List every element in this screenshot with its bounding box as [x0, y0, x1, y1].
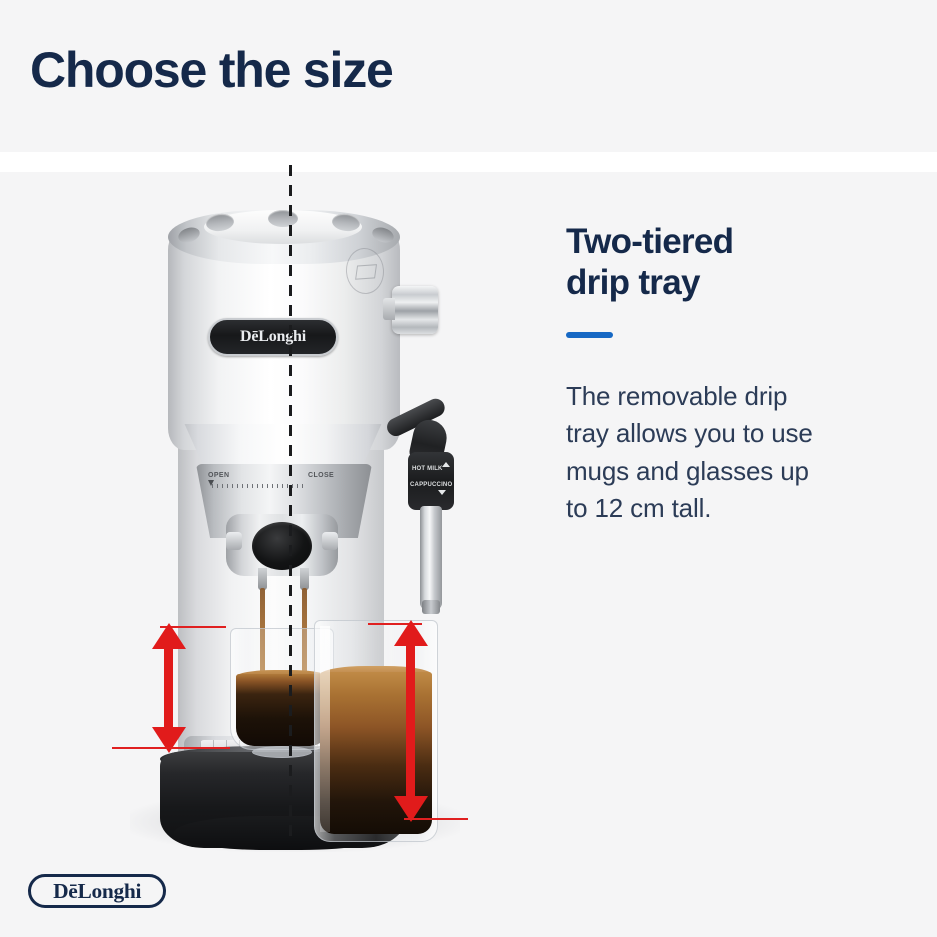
- portafilter-ear-left: [226, 532, 242, 550]
- steam-wand-cappuccino-label: CAPPUCCINO: [410, 482, 452, 488]
- feature-accent-divider: [566, 332, 613, 338]
- steam-wand-hot-milk-label: HOT MILK: [412, 466, 443, 472]
- feature-title: Two-tiered drip tray: [566, 222, 906, 304]
- steam-wand-tip: [422, 600, 440, 614]
- measure-left-tick-bottom: [112, 747, 230, 749]
- group-head-open-label: OPEN: [208, 472, 229, 479]
- coffee-spout-left: [258, 568, 267, 590]
- measure-left-arrowhead-down: [152, 727, 186, 753]
- measure-right-tick-bottom: [404, 818, 468, 820]
- top-button-two-cup[interactable]: [268, 210, 298, 227]
- page-title: Choose the size: [30, 44, 393, 97]
- portafilter-basket: [252, 522, 312, 570]
- steam-control-knob[interactable]: [392, 286, 438, 334]
- measure-left-shaft: [164, 645, 173, 733]
- delonghi-logo-text: DēLonghi: [53, 881, 141, 902]
- steam-wand-down-arrow-icon: [438, 490, 446, 495]
- group-head-close-label: CLOSE: [308, 472, 334, 479]
- steam-wand-collar[interactable]: [408, 452, 454, 510]
- steam-wand-tube: [420, 506, 442, 610]
- product-image: DēLonghi OPEN CLOSE HOT MILK CAPPUCCINO: [120, 180, 480, 860]
- feature-text-panel: Two-tiered drip tray The removable drip …: [566, 222, 906, 528]
- coffee-spout-right: [300, 568, 309, 590]
- portafilter-ear-right: [322, 532, 338, 550]
- machine-brand-badge: DēLonghi: [208, 318, 338, 356]
- steam-wand-up-arrow-icon: [442, 462, 450, 467]
- feature-description: The removable drip tray allows you to us…: [566, 378, 906, 528]
- glass-tall-highlight: [320, 626, 330, 832]
- comparison-split-line: [289, 165, 292, 841]
- page-header: Choose the size: [0, 0, 937, 152]
- machine-brand-badge-text: DēLonghi: [240, 329, 306, 345]
- espresso-cup-small-foot: [252, 746, 312, 758]
- delonghi-logo: DēLonghi: [28, 874, 166, 908]
- header-divider: [0, 152, 937, 172]
- page-root: Choose the size DēLonghi OPEN CLOSE: [0, 0, 937, 937]
- measure-right-shaft: [406, 642, 415, 802]
